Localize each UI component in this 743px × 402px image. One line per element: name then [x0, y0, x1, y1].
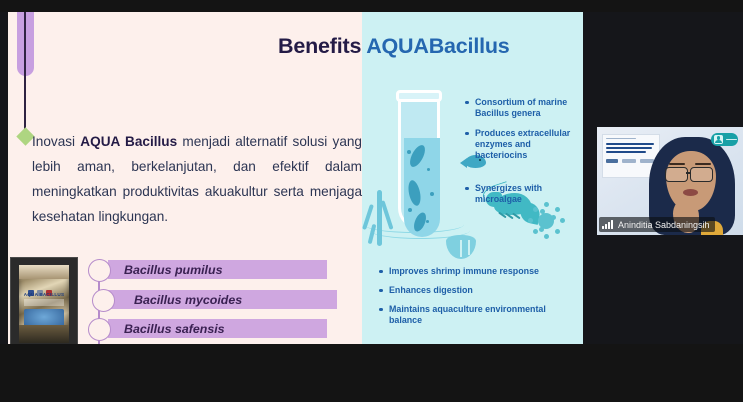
benefits-bullet-list-top: Consortium of marine Bacillus genera Pro…	[464, 97, 583, 214]
pouch-brand-label: AQUA BACILLUS	[19, 292, 69, 297]
test-tube-rim	[396, 90, 442, 102]
species-label-2: Bacillus mycoides	[134, 293, 242, 307]
slide-paragraph: Inovasi AQUA Bacillus menjadi alternatif…	[32, 129, 362, 229]
meeting-screen-share-view: Benefits AQUABacillus Inovasi AQUA Bacil…	[0, 0, 743, 402]
bullet-item: Maintains aquaculture environmental bala…	[378, 304, 573, 326]
pouch-text-block	[24, 299, 64, 306]
badge-line	[726, 139, 737, 141]
bullet-item: Improves shrimp immune response	[378, 266, 573, 277]
benefits-bullet-list-bottom: Improves shrimp immune response Enhances…	[378, 266, 573, 334]
bacillus-shape-1	[407, 143, 428, 169]
vertical-line-decoration	[24, 12, 26, 140]
product-photo: AQUA BACILLUS	[10, 257, 78, 344]
signal-strength-icon	[602, 220, 614, 229]
test-tube-body	[398, 95, 440, 229]
species-bullet-circle-3	[88, 318, 111, 341]
participant-name-text: Aninditia Sabdaningsih	[618, 220, 710, 230]
person-icon	[714, 135, 723, 144]
eyeglasses-icon	[665, 167, 717, 180]
slide-title-part-one: Benefits	[278, 34, 366, 58]
test-tube-icon	[398, 87, 440, 229]
product-pouch-image: AQUA BACILLUS	[19, 265, 69, 343]
test-tube-liquid	[404, 138, 440, 237]
participant-video-tile[interactable]: Aninditia Sabdaningsih	[597, 127, 743, 235]
bullet-item: Enhances digestion	[378, 285, 573, 296]
paragraph-text-before: Inovasi	[32, 134, 80, 149]
species-bullet-circle-1	[88, 259, 111, 282]
species-bar-2: Bacillus mycoides	[108, 290, 337, 309]
presentation-slide: Benefits AQUABacillus Inovasi AQUA Bacil…	[8, 12, 583, 344]
participant-name-label: Aninditia Sabdaningsih	[599, 217, 715, 232]
bullet-item: Consortium of marine Bacillus genera	[464, 97, 583, 119]
pouch-bottom	[19, 325, 69, 343]
bullet-item: Produces extracellular enzymes and bacte…	[464, 128, 583, 161]
species-bullet-circle-2	[92, 289, 115, 312]
species-bar-3: Bacillus safensis	[108, 319, 327, 338]
seashell-icon	[446, 235, 476, 259]
participant-status-badge[interactable]	[711, 133, 738, 146]
pouch-seal	[19, 265, 69, 279]
species-bar-1: Bacillus pumilus	[108, 260, 327, 279]
seaweed-icon	[366, 190, 394, 250]
species-label-1: Bacillus pumilus	[124, 263, 222, 277]
species-label-3: Bacillus safensis	[124, 322, 225, 336]
illustration-area: Consortium of marine Bacillus genera Pro…	[362, 12, 583, 344]
pouch-logos	[28, 283, 60, 289]
paragraph-bold-term: AQUA Bacillus	[80, 134, 177, 149]
bacillus-shape-2	[406, 179, 422, 207]
bullet-item: Synergizes with microalgae	[464, 183, 583, 205]
participant-mouth	[683, 189, 698, 196]
